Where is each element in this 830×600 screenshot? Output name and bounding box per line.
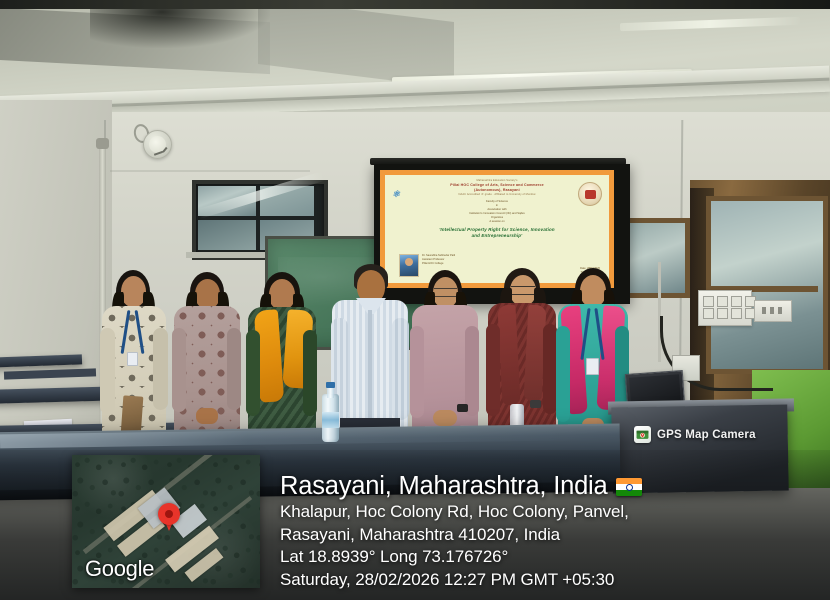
ceiling-shadow xyxy=(90,8,270,48)
head xyxy=(580,275,606,307)
light-switch[interactable] xyxy=(731,296,742,307)
socket-pin xyxy=(770,307,774,314)
gps-address-line-1: Khalapur, Hoc Colony Rd, Hoc Colony, Pan… xyxy=(280,501,825,524)
socket-pin xyxy=(762,307,766,314)
wristwatch xyxy=(457,404,468,412)
gps-map-thumbnail[interactable]: Google xyxy=(72,455,260,588)
bottle-label xyxy=(322,412,339,428)
arm xyxy=(227,328,241,410)
head xyxy=(269,279,295,310)
arm xyxy=(543,324,557,414)
gps-map-camera-photo: ⚛ Maharashtra Education Society's Pillai… xyxy=(0,0,830,600)
arm xyxy=(172,328,186,412)
slide-title-line-2: and Entrepreneurship' xyxy=(472,233,523,240)
arm xyxy=(465,326,479,416)
gps-map-camera-label: GPS Map Camera xyxy=(657,429,756,441)
eyeglasses-icon xyxy=(434,288,457,297)
water-bottle xyxy=(322,382,339,442)
clock-face xyxy=(149,136,166,153)
light-switch[interactable] xyxy=(703,296,714,307)
gps-coordinates: Lat 18.8939° Long 73.176726° xyxy=(280,546,825,569)
shirt-placket xyxy=(368,310,372,420)
head xyxy=(195,279,220,309)
map-pin-icon xyxy=(158,503,180,525)
arm xyxy=(153,328,168,410)
window-pane xyxy=(198,220,256,250)
id-badge xyxy=(586,358,599,375)
india-flag-icon xyxy=(616,478,642,496)
arm xyxy=(246,330,260,416)
slide-org-tiny: Maharashtra Education Society's xyxy=(477,179,518,183)
socket-pin xyxy=(778,307,782,314)
slide-title-line-1: 'Intellectual Property Right for Science… xyxy=(439,227,555,234)
hands xyxy=(433,410,457,426)
image-top-band xyxy=(0,0,830,9)
eyeglasses-icon xyxy=(511,286,535,295)
wall-seam xyxy=(110,170,310,172)
arm xyxy=(303,330,317,416)
gps-text-block: Rasayani, Maharashtra, India Khalapur, H… xyxy=(280,472,825,592)
wall-clock-icon xyxy=(143,130,172,159)
clock-minute-hand xyxy=(154,151,163,155)
gps-address-line-2: Rasayani, Maharashtra 410207, India xyxy=(280,524,825,547)
arm xyxy=(410,326,424,418)
wall-conduit xyxy=(658,262,661,362)
gps-timestamp: Saturday, 28/02/2026 12:27 PM GMT +05:30 xyxy=(280,569,825,592)
gps-place-title-row: Rasayani, Maharashtra, India xyxy=(280,472,825,501)
map-pin-dot xyxy=(165,510,173,518)
google-attribution: Google xyxy=(85,556,154,582)
switch-row xyxy=(703,296,756,307)
arm xyxy=(392,318,409,420)
wall-pipe-cap xyxy=(96,138,109,149)
gps-map-camera-icon xyxy=(634,426,651,443)
wristwatch xyxy=(530,400,541,408)
slide-accreditation: NAAC Accredited 'A' grade · Affiliated t… xyxy=(459,193,536,197)
id-badge xyxy=(127,352,138,366)
light-switch[interactable] xyxy=(717,296,728,307)
slide-speaker-org: Pillai HOC College xyxy=(422,262,455,266)
arm xyxy=(486,324,500,416)
hands xyxy=(196,408,218,424)
gps-map-camera-watermark: GPS Map Camera xyxy=(634,426,756,443)
gps-place-title: Rasayani, Maharashtra, India xyxy=(280,472,608,501)
bottle-cap xyxy=(326,382,335,388)
slide-session-line: A session on xyxy=(489,220,504,224)
arm xyxy=(556,326,570,422)
arm xyxy=(100,328,115,414)
